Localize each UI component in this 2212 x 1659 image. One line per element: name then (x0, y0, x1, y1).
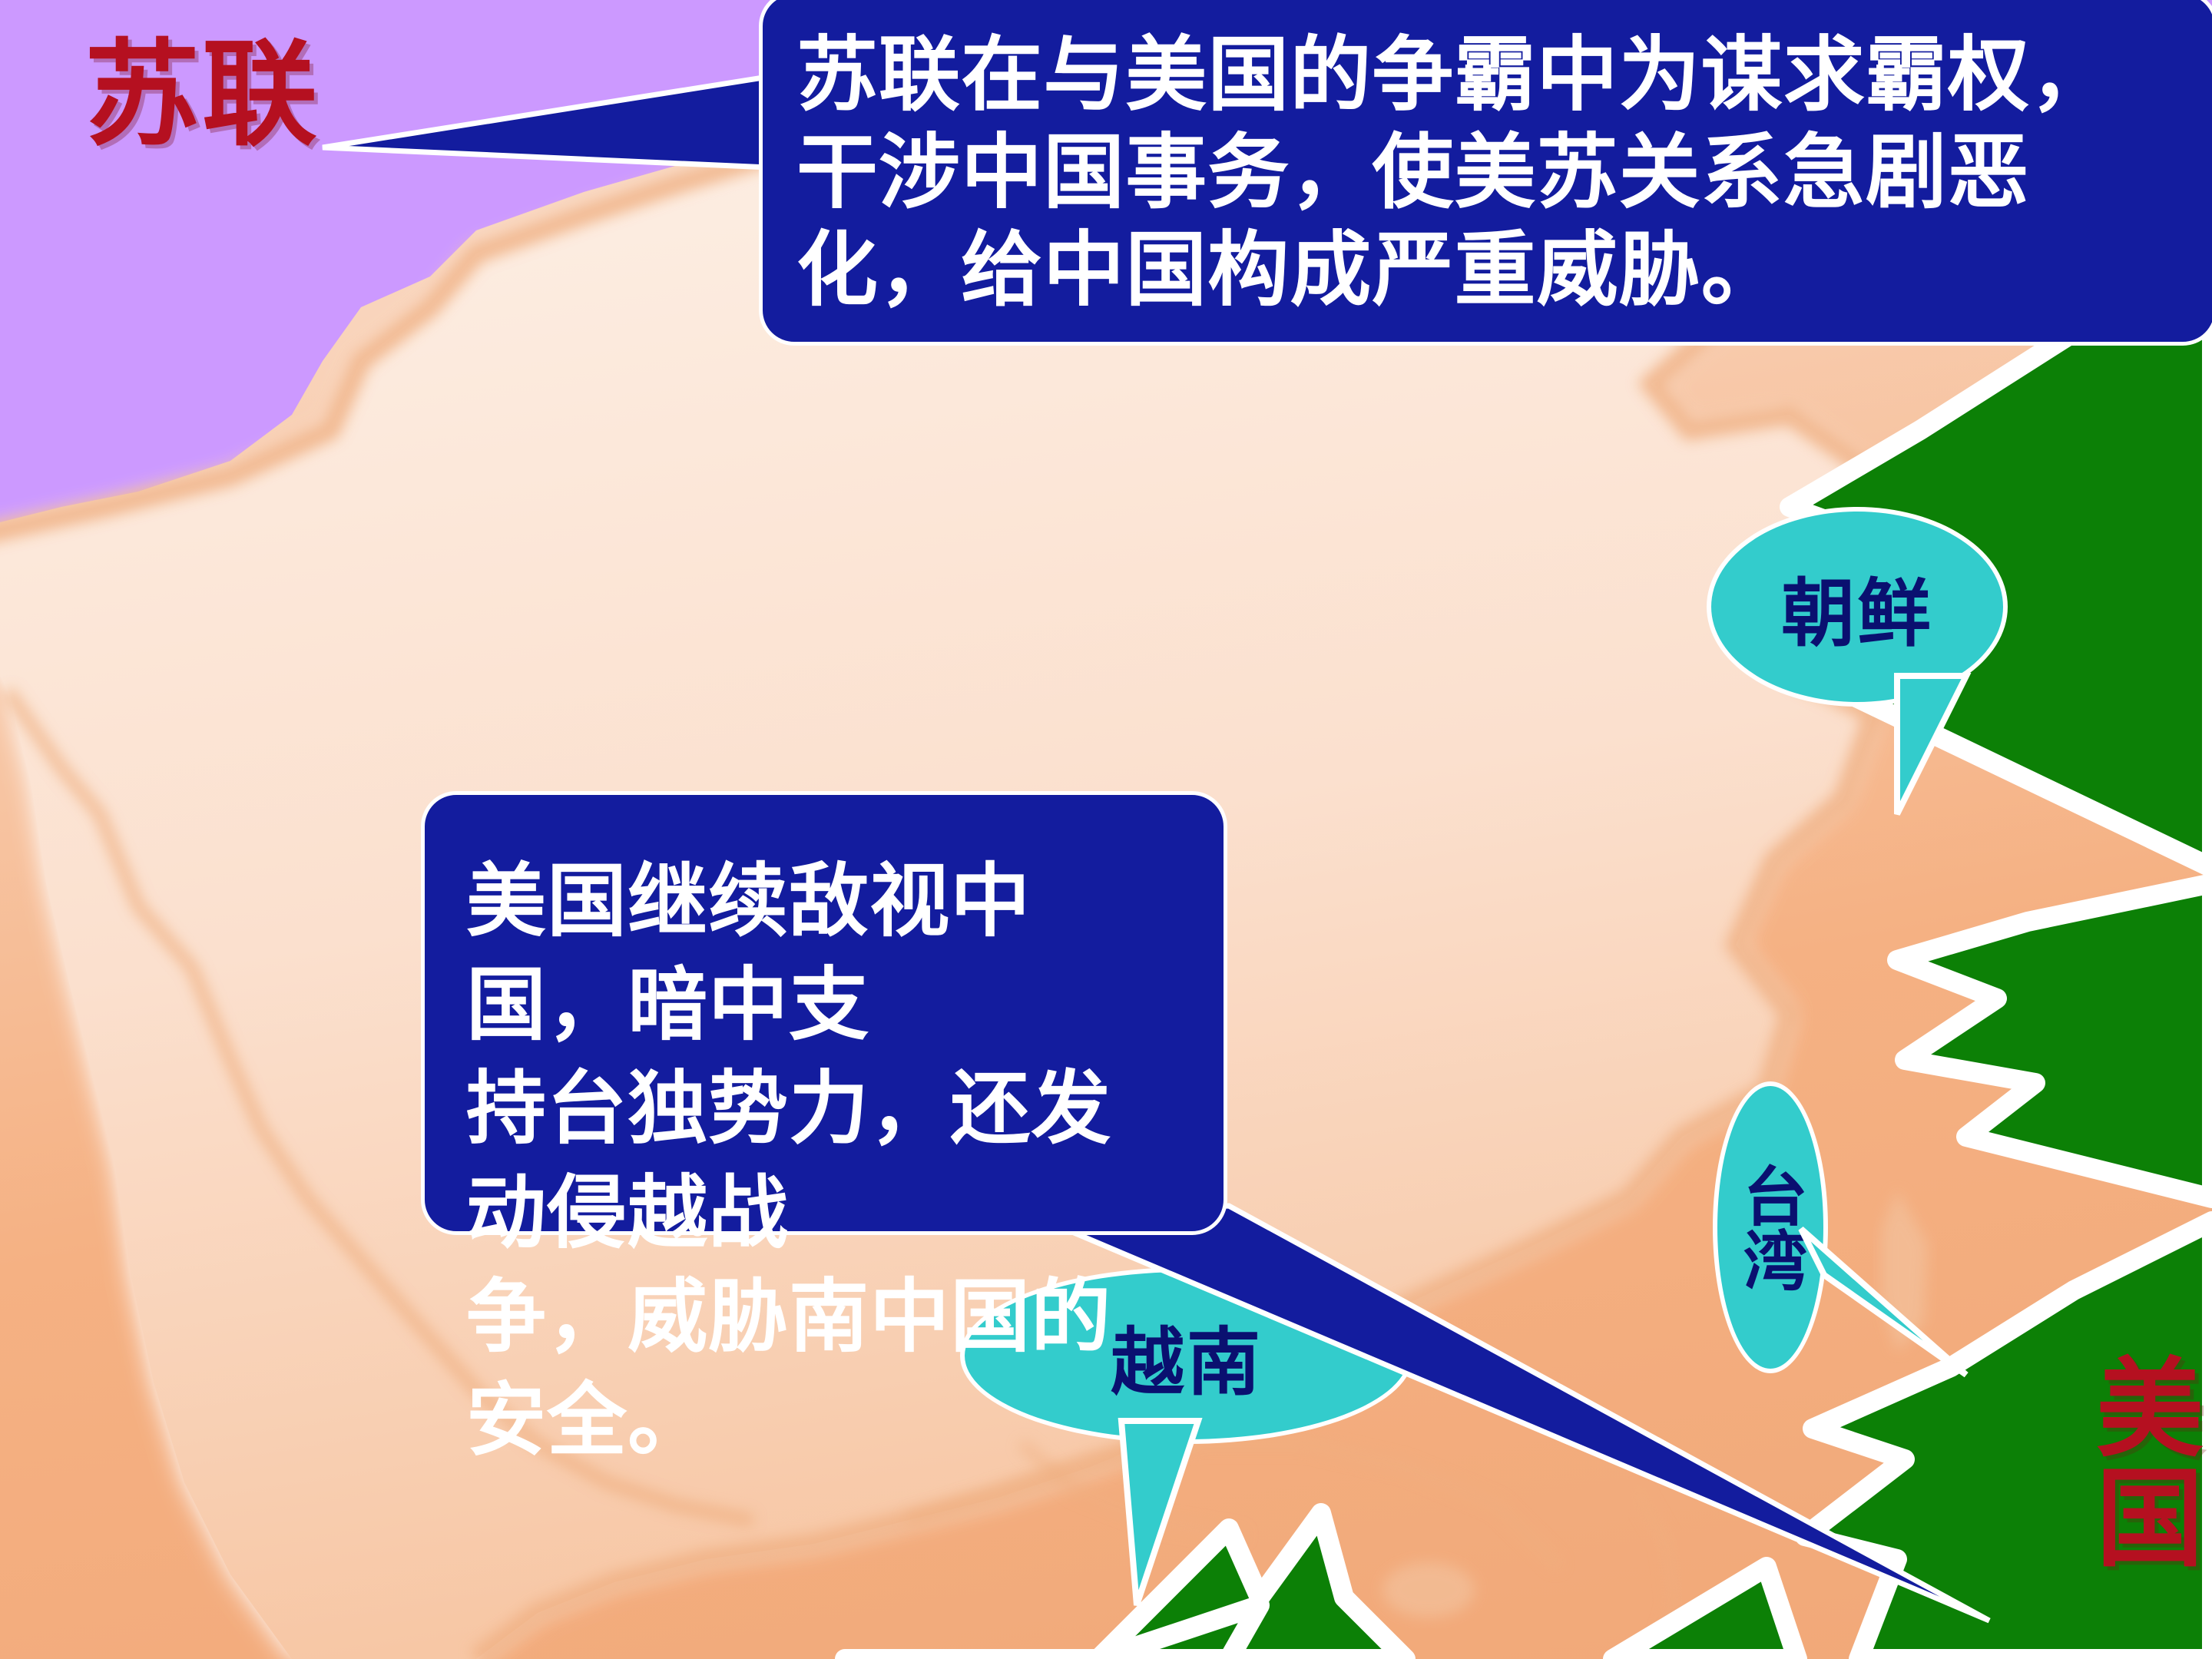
callout-soviet-line-2: 干涉中国事务，使美苏关系急剧恶 (796, 123, 2181, 220)
bubble-korea-label: 朝鲜 (1781, 554, 1933, 661)
callout-usa-line-3: 争，威胁南中国的安全。 (466, 1264, 1185, 1472)
callout-usa-line-2: 持台独势力，还发动侵越战 (466, 1056, 1185, 1263)
bubble-korea[interactable]: 朝鲜 (1707, 507, 2008, 707)
green-arrow-southwest (1613, 1567, 1797, 1659)
green-arrow-east (1897, 883, 2212, 1198)
bubble-taiwan[interactable]: 台湾 (1713, 1081, 1828, 1373)
bubble-taiwan-label: 台湾 (1737, 1163, 1804, 1292)
label-united-states: 美国 (2085, 1352, 2195, 1571)
callout-united-states[interactable]: 美国继续敌视中国，暗中支 持台独势力，还发动侵越战 争，威胁南中国的安全。 (421, 791, 1227, 1235)
label-soviet-union: 苏联 (84, 37, 320, 152)
callout-soviet-union[interactable]: 苏联在与美国的争霸中为谋求霸权， 干涉中国事务，使美苏关系急剧恶 化，给中国构成… (759, 0, 2212, 346)
callout-usa-line-1: 美国继续敌视中国，暗中支 (466, 849, 1185, 1056)
callout-soviet-line-1: 苏联在与美国的争霸中为谋求霸权， (796, 25, 2181, 123)
callout-soviet-line-3: 化，给中国构成严重威胁。 (796, 220, 2181, 318)
slide-canvas: 朝鲜 台湾 越南 苏联 美国 苏联在与美国的争霸中为谋求霸权， 干涉中国事务，使… (0, 0, 2212, 1659)
